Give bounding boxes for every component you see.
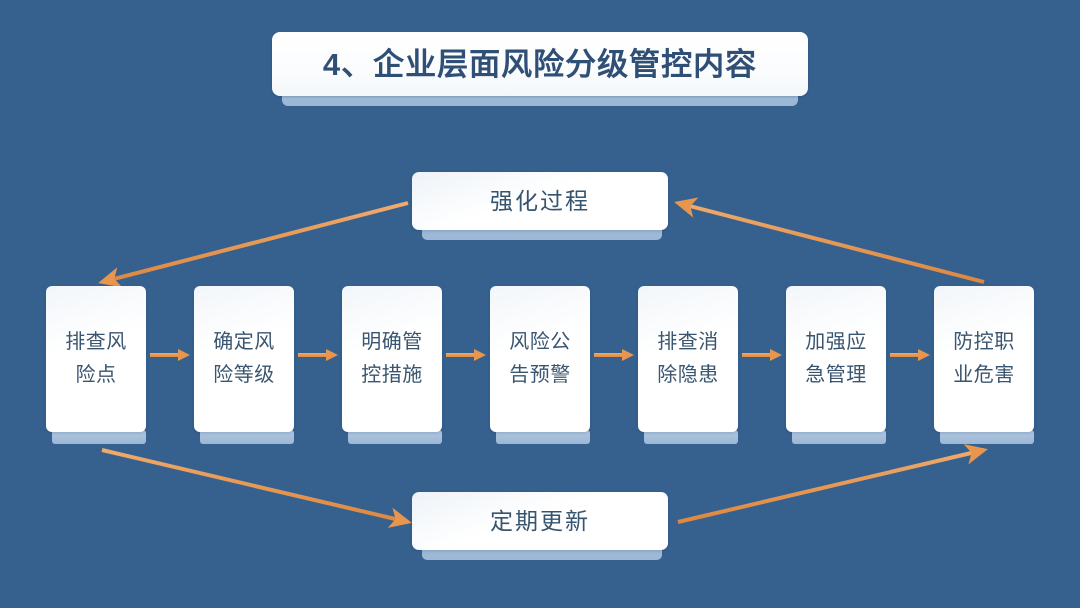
step-box-7-label: 防控职业危害 [948, 326, 1020, 392]
step-box-3[interactable]: 明确管控措施 [342, 286, 442, 444]
slide-canvas: 4、企业层面风险分级管控内容 强化过程 排查风 [0, 0, 1080, 608]
step-box-5-label: 排查消除隐患 [652, 326, 724, 392]
connector-arrow-5-head-icon [770, 349, 782, 361]
step-box-6-label: 加强应急管理 [800, 326, 872, 392]
step-box-4-shadow-bar [496, 430, 590, 444]
slide-title: 4、企业层面风险分级管控内容 [272, 32, 808, 100]
step-box-7[interactable]: 防控职业危害 [934, 286, 1034, 444]
node-top-card[interactable]: 强化过程 [412, 172, 668, 230]
arrow-bottom-left [102, 450, 408, 522]
connector-arrow-3-head-icon [474, 349, 486, 361]
node-bottom-label: 定期更新 [490, 510, 590, 533]
node-bottom[interactable]: 定期更新 [412, 492, 668, 554]
step-box-2-card[interactable]: 确定风险等级 [194, 286, 294, 432]
connector-arrow-4-head-icon [622, 349, 634, 361]
connector-arrow-1-shaft [150, 353, 180, 357]
step-box-4-card[interactable]: 风险公告预警 [490, 286, 590, 432]
connector-arrow-2-shaft [298, 353, 328, 357]
page-title: 4、企业层面风险分级管控内容 [323, 49, 757, 80]
step-box-3-shadow-bar [348, 430, 442, 444]
step-box-5-card[interactable]: 排查消除隐患 [638, 286, 738, 432]
step-box-1-shadow-bar [52, 430, 146, 444]
connector-arrow-6-head-icon [918, 349, 930, 361]
connector-arrow-2 [298, 349, 338, 361]
step-box-2[interactable]: 确定风险等级 [194, 286, 294, 444]
node-top[interactable]: 强化过程 [412, 172, 668, 234]
connector-arrow-5-shaft [742, 353, 772, 357]
connector-arrow-3 [446, 349, 486, 361]
step-box-4-label: 风险公告预警 [504, 326, 576, 392]
step-box-5-shadow-bar [644, 430, 738, 444]
step-box-2-shadow-bar [200, 430, 294, 444]
connector-arrow-3-shaft [446, 353, 476, 357]
step-box-3-label: 明确管控措施 [356, 326, 428, 392]
arrow-top-right [678, 203, 984, 282]
step-box-1-card[interactable]: 排查风险点 [46, 286, 146, 432]
step-box-1[interactable]: 排查风险点 [46, 286, 146, 444]
step-box-2-label: 确定风险等级 [208, 326, 280, 392]
step-box-4[interactable]: 风险公告预警 [490, 286, 590, 444]
node-bottom-card[interactable]: 定期更新 [412, 492, 668, 550]
connector-arrow-1-head-icon [178, 349, 190, 361]
step-box-6-shadow-bar [792, 430, 886, 444]
connector-arrow-5 [742, 349, 782, 361]
step-box-7-card[interactable]: 防控职业危害 [934, 286, 1034, 432]
arrow-top-left [102, 203, 408, 282]
connector-arrow-4-shaft [594, 353, 624, 357]
connector-arrow-1 [150, 349, 190, 361]
title-card: 4、企业层面风险分级管控内容 [272, 32, 808, 96]
step-box-5[interactable]: 排查消除隐患 [638, 286, 738, 444]
step-box-3-card[interactable]: 明确管控措施 [342, 286, 442, 432]
arrow-bottom-right [678, 450, 984, 522]
step-box-6[interactable]: 加强应急管理 [786, 286, 886, 444]
step-box-6-card[interactable]: 加强应急管理 [786, 286, 886, 432]
step-box-7-shadow-bar [940, 430, 1034, 444]
connector-arrow-6-shaft [890, 353, 920, 357]
node-top-label: 强化过程 [490, 190, 590, 213]
connector-arrow-4 [594, 349, 634, 361]
connector-arrow-2-head-icon [326, 349, 338, 361]
step-box-1-label: 排查风险点 [60, 326, 132, 392]
connector-arrow-6 [890, 349, 930, 361]
